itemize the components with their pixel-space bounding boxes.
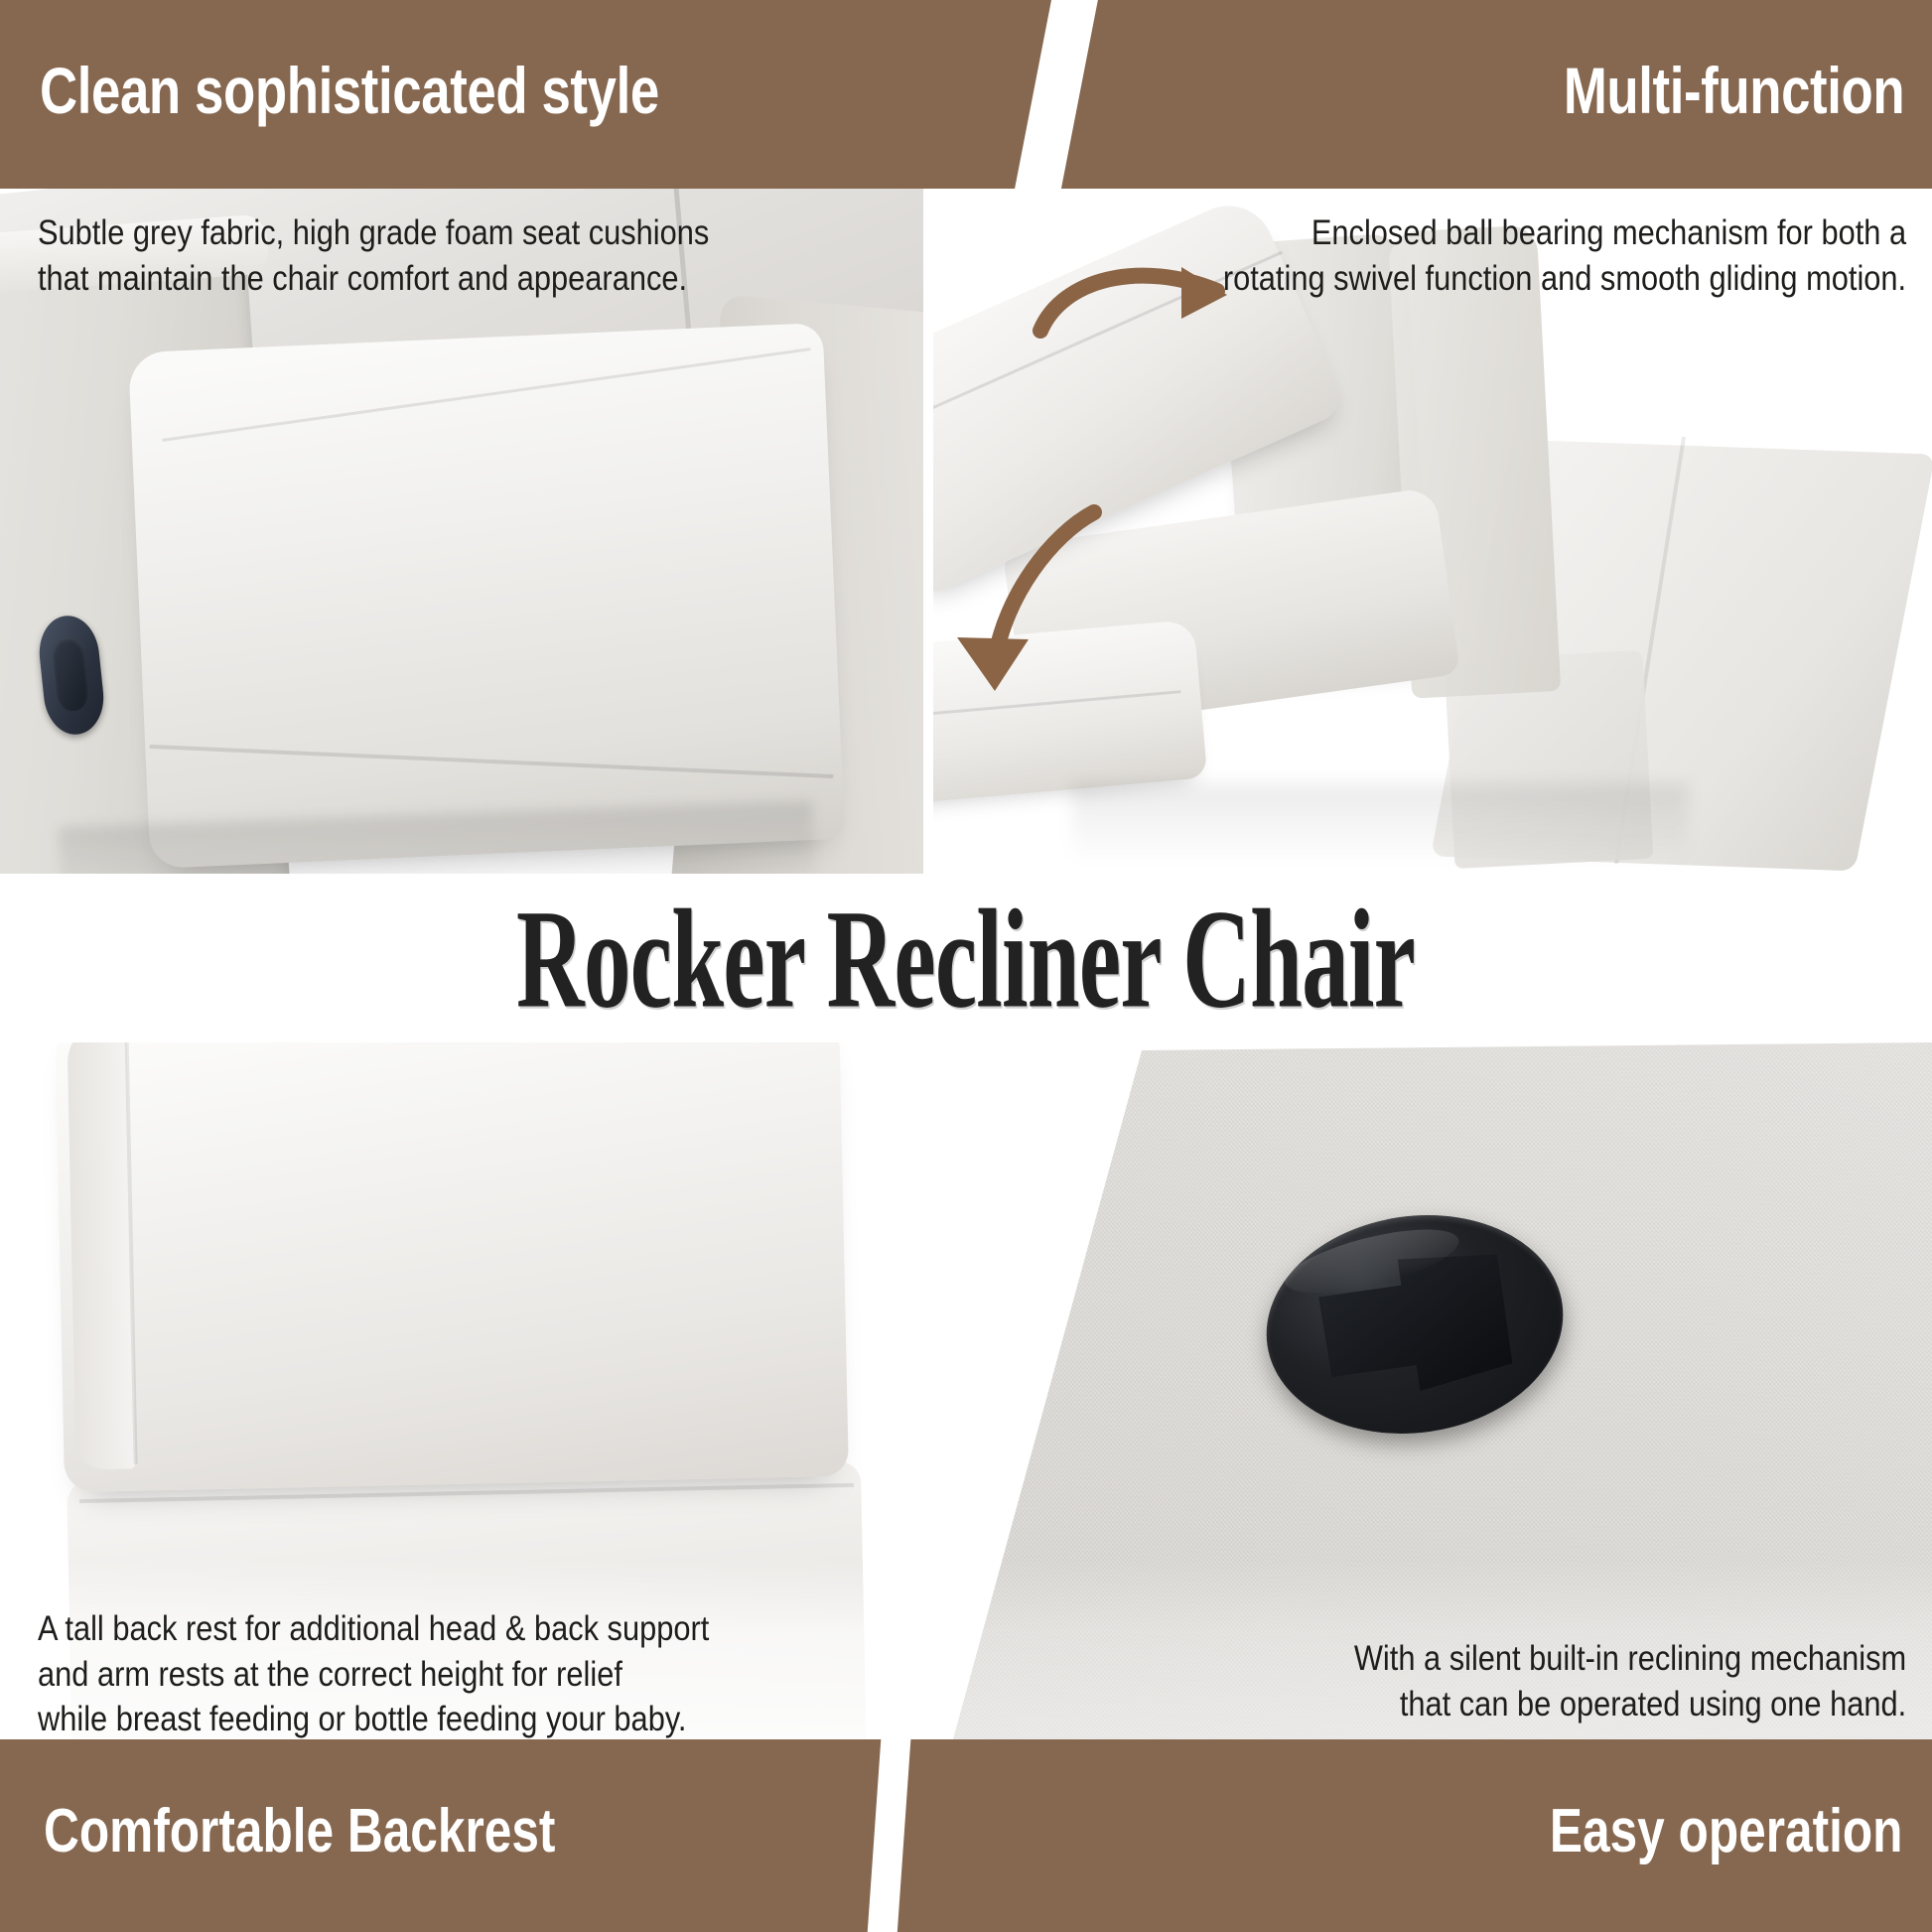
footer-heading-right: Easy operation [1549, 1801, 1902, 1863]
curved-arrow-down-icon [933, 486, 1132, 725]
panel-body-top-left: Subtle grey fabric, high grade foam seat… [38, 210, 709, 301]
header-heading-right: Multi-function [1564, 58, 1904, 123]
backrest-cushion [55, 1042, 849, 1492]
panel-body-bottom-right: With a silent built-in reclining mechani… [1354, 1636, 1906, 1726]
mechanism-shadow [1072, 784, 1688, 864]
recline-handle-recess [51, 636, 90, 713]
center-title-band: Rocker Recliner Chair [0, 874, 1932, 1042]
top-header-bar: Clean sophisticated style Multi-function [0, 0, 1932, 189]
panel-body-bottom-left: A tall back rest for additional head & b… [38, 1606, 709, 1742]
photo-release-handle [923, 1042, 1932, 1739]
product-infographic-poster: Clean sophisticated style Multi-function… [0, 0, 1932, 1932]
footer-diagonal-divider [864, 1739, 913, 1932]
panel-body-top-right: Enclosed ball bearing mechanism for both… [1223, 210, 1906, 301]
seat-cushion [128, 323, 845, 869]
product-title: Rocker Recliner Chair [516, 876, 1415, 1039]
header-heading-left: Clean sophisticated style [40, 58, 659, 123]
footer-heading-left: Comfortable Backrest [44, 1801, 555, 1863]
bottom-footer-bar: Comfortable Backrest Easy operation [0, 1739, 1932, 1932]
header-diagonal-divider [1009, 0, 1103, 189]
